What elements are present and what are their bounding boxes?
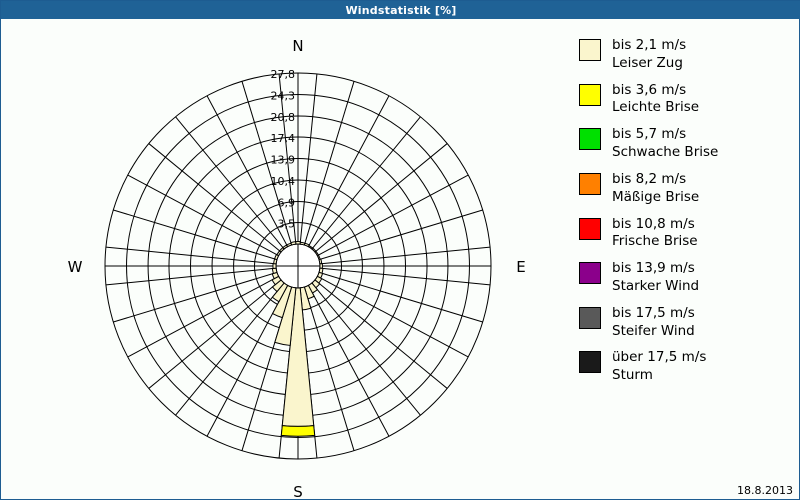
legend-item: bis 5,7 m/sSchwache Brise: [579, 126, 794, 162]
grid-spoke: [113, 272, 277, 322]
legend-color-swatch: [579, 173, 601, 195]
legend-speed-label: bis 3,6 m/s: [612, 82, 699, 100]
radial-tick-label: 27,8: [271, 68, 296, 81]
radial-tick-label: 20,8: [271, 111, 296, 124]
legend-item: über 17,5 m/sSturm: [579, 349, 794, 385]
legend-name-label: Starker Wind: [612, 278, 699, 296]
compass-label-west: W: [68, 258, 83, 276]
legend-item: bis 8,2 m/sMäßige Brise: [579, 171, 794, 207]
legend-color-swatch: [579, 351, 601, 373]
legend-speed-label: bis 5,7 m/s: [612, 126, 718, 144]
wind-petal: [296, 242, 301, 245]
wind-petal: [320, 264, 323, 269]
compass-label-east: E: [516, 258, 525, 276]
wind-petal: [281, 426, 314, 437]
legend-name-label: Sturm: [612, 367, 706, 385]
legend-speed-label: bis 10,8 m/s: [612, 216, 698, 234]
compass-label-south: S: [293, 483, 303, 501]
legend-name-label: Leiser Zug: [612, 55, 686, 73]
legend: bis 2,1 m/sLeiser Zugbis 3,6 m/sLeichte …: [579, 37, 794, 394]
legend-speed-label: bis 13,9 m/s: [612, 260, 699, 278]
legend-label: bis 2,1 m/sLeiser Zug: [612, 37, 686, 73]
windrose-plot: 3,56,910,413,917,420,824,327,8NESW: [1, 19, 561, 501]
window-title: Windstatistik [%]: [345, 4, 456, 17]
grid-spoke: [319, 210, 483, 260]
legend-color-swatch: [579, 307, 601, 329]
windrose-svg: 3,56,910,413,917,420,824,327,8NESW: [1, 19, 561, 501]
legend-name-label: Frische Brise: [612, 233, 698, 251]
legend-color-swatch: [579, 84, 601, 106]
legend-color-swatch: [579, 218, 601, 240]
legend-speed-label: über 17,5 m/s: [612, 349, 706, 367]
datestamp: 18.8.2013: [737, 484, 793, 497]
legend-color-swatch: [579, 262, 601, 284]
window-title-bar: Windstatistik [%]: [1, 1, 800, 19]
legend-speed-label: bis 17,5 m/s: [612, 305, 695, 323]
grid-spoke: [319, 272, 483, 322]
grid-spoke: [113, 210, 277, 260]
legend-item: bis 10,8 m/sFrische Brise: [579, 216, 794, 252]
legend-label: bis 5,7 m/sSchwache Brise: [612, 126, 718, 162]
legend-label: bis 13,9 m/sStarker Wind: [612, 260, 699, 296]
wind-petal: [291, 242, 296, 245]
legend-item: bis 3,6 m/sLeichte Brise: [579, 82, 794, 118]
legend-speed-label: bis 2,1 m/s: [612, 37, 686, 55]
legend-name-label: Leichte Brise: [612, 99, 699, 117]
radial-tick-label: 24,3: [271, 90, 296, 103]
legend-speed-label: bis 8,2 m/s: [612, 171, 699, 189]
legend-label: bis 8,2 m/sMäßige Brise: [612, 171, 699, 207]
radial-tick-label: 6,9: [278, 197, 296, 210]
wind-petal: [319, 259, 322, 264]
radial-tick-label: 3,5: [278, 217, 296, 230]
legend-label: bis 10,8 m/sFrische Brise: [612, 216, 698, 252]
legend-item: bis 13,9 m/sStarker Wind: [579, 260, 794, 296]
legend-name-label: Mäßige Brise: [612, 189, 699, 207]
radial-tick-label: 10,4: [271, 175, 296, 188]
legend-item: bis 2,1 m/sLeiser Zug: [579, 37, 794, 73]
grid-spoke: [304, 81, 354, 245]
radial-tick-label: 13,9: [271, 154, 296, 167]
legend-name-label: Schwache Brise: [612, 144, 718, 162]
legend-label: bis 3,6 m/sLeichte Brise: [612, 82, 699, 118]
legend-label: über 17,5 m/sSturm: [612, 349, 706, 385]
windrose-window: Windstatistik [%] 3,56,910,413,917,420,8…: [0, 0, 800, 500]
legend-label: bis 17,5 m/sSteifer Wind: [612, 305, 695, 341]
radial-tick-label: 17,4: [271, 132, 296, 145]
compass-label-north: N: [292, 37, 303, 55]
legend-name-label: Steifer Wind: [612, 323, 695, 341]
legend-item: bis 17,5 m/sSteifer Wind: [579, 305, 794, 341]
legend-color-swatch: [579, 39, 601, 61]
legend-color-swatch: [579, 128, 601, 150]
